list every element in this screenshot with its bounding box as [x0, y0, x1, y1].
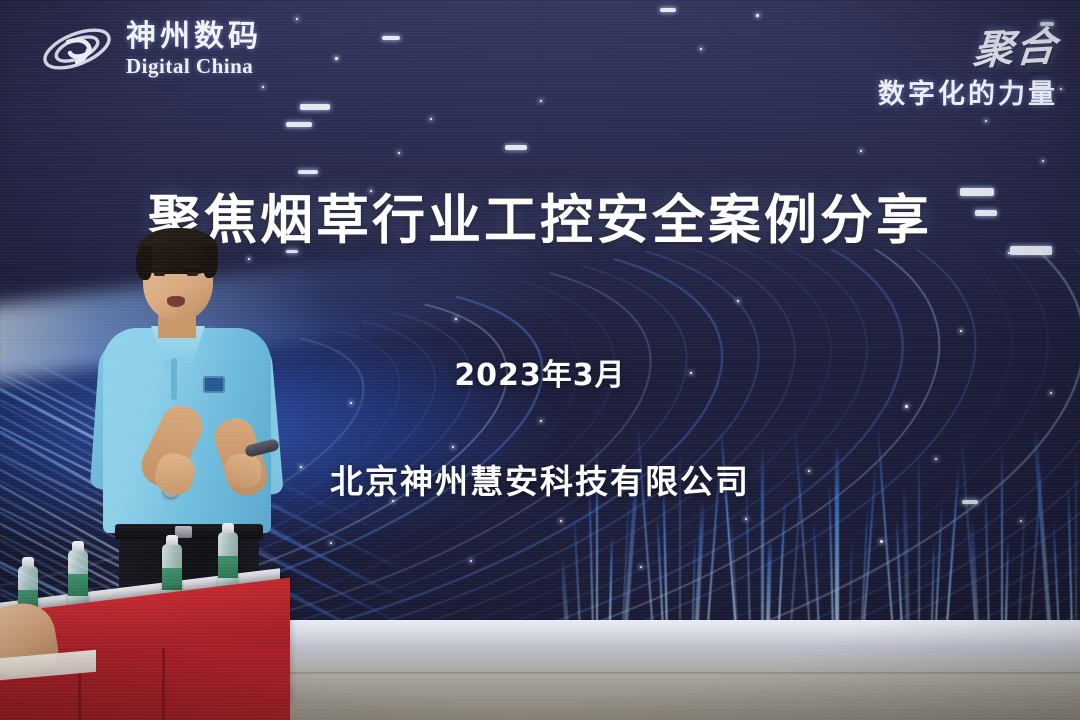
brand-name-cn: 神州数码 — [126, 22, 262, 52]
event-calligraphy: 聚合 — [971, 14, 1061, 76]
bottle-label — [68, 574, 88, 596]
digital-china-logo: 神州数码 Digital China — [38, 18, 262, 80]
digital-china-swirl-icon — [38, 18, 116, 80]
speaker-eye-left — [154, 272, 165, 276]
speaker-mouth — [167, 296, 185, 307]
speaker-eyebrow-left — [152, 265, 166, 268]
speaker-shirt-placket — [171, 358, 177, 400]
speaker-right-hand — [225, 454, 261, 488]
cloth-fold — [162, 648, 165, 720]
bottle-label — [218, 556, 238, 578]
event-tagline: 数字化的力量 — [878, 72, 1058, 111]
conference-stage-photo: 神州数码 Digital China 聚合 数字化的力量 聚焦烟草行业工控安全案… — [0, 0, 1080, 720]
speaker-hair-left — [136, 246, 152, 280]
speaker-hair-right — [203, 246, 218, 278]
bottle-cap — [22, 557, 34, 567]
bottle-cap — [166, 535, 178, 545]
bottle-cap — [72, 541, 84, 551]
event-logo: 聚合 数字化的力量 — [878, 16, 1058, 111]
speaker-shirt-logo — [203, 376, 225, 393]
brand-name-en: Digital China — [126, 56, 262, 77]
digital-china-wordmark: 神州数码 Digital China — [126, 22, 262, 77]
speaker-eyebrow-right — [185, 265, 199, 268]
bottle-cap — [222, 523, 234, 533]
bottle-label — [162, 568, 182, 590]
speaker-eye-right — [187, 272, 198, 276]
